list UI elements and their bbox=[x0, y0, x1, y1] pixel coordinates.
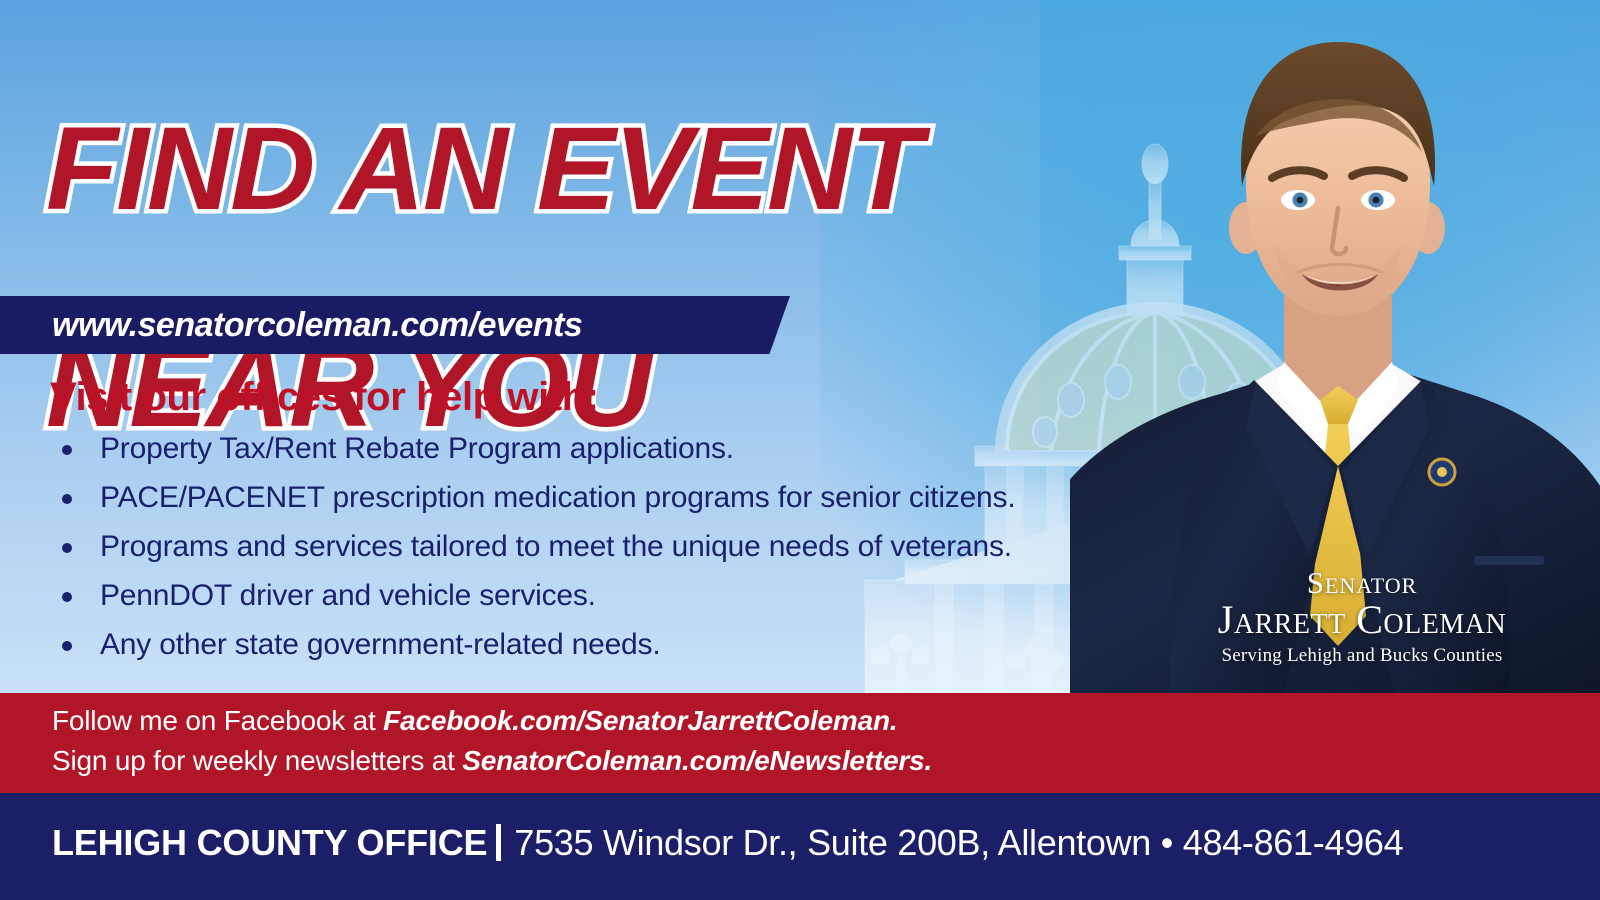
url-banner[interactable]: www.senatorcoleman.com/events bbox=[0, 296, 790, 354]
bullet-dot-icon bbox=[62, 592, 72, 602]
list-item: Property Tax/Rent Rebate Program applica… bbox=[52, 434, 1112, 464]
mailer-poster: FIND AN EVENT NEAR YOU www.senatorcolema… bbox=[0, 0, 1600, 900]
list-item: Programs and services tailored to meet t… bbox=[52, 532, 1112, 562]
newsletter-line: Sign up for weekly newsletters at Senato… bbox=[52, 745, 932, 777]
list-item-label: Programs and services tailored to meet t… bbox=[100, 530, 1012, 563]
bullet-dot-icon bbox=[62, 641, 72, 651]
bullet-dot-icon bbox=[62, 494, 72, 504]
senator-portrait-photo bbox=[1070, 0, 1600, 696]
events-url-text[interactable]: www.senatorcoleman.com/events bbox=[52, 306, 582, 345]
office-footer: LEHIGH COUNTY OFFICE7535 Windsor Dr., Su… bbox=[0, 793, 1600, 900]
services-list: Property Tax/Rent Rebate Program applica… bbox=[52, 434, 1112, 679]
footer-text: LEHIGH COUNTY OFFICE7535 Windsor Dr., Su… bbox=[52, 822, 1403, 864]
facebook-url[interactable]: Facebook.com/SenatorJarrettColeman. bbox=[383, 705, 897, 736]
newsletter-prefix: Sign up for weekly newsletters at bbox=[52, 745, 462, 776]
facebook-line: Follow me on Facebook at Facebook.com/Se… bbox=[52, 705, 897, 737]
list-item-label: PennDOT driver and vehicle services. bbox=[100, 579, 596, 612]
list-item: Any other state government-related needs… bbox=[52, 630, 1112, 660]
office-address: 7535 Windsor Dr., Suite 200B, Allentown … bbox=[514, 822, 1403, 863]
bullet-dot-icon bbox=[62, 543, 72, 553]
newsletter-url[interactable]: SenatorColeman.com/eNewsletters. bbox=[462, 745, 932, 776]
bullet-dot-icon bbox=[62, 445, 72, 455]
list-item-label: PACE/PACENET prescription medication pro… bbox=[100, 481, 1015, 514]
office-label: LEHIGH COUNTY OFFICE bbox=[52, 822, 487, 863]
divider-bar bbox=[496, 824, 501, 861]
headline-line-1: FIND AN EVENT bbox=[46, 115, 1186, 224]
list-item-label: Any other state government-related needs… bbox=[100, 628, 660, 661]
list-item: PACE/PACENET prescription medication pro… bbox=[52, 483, 1112, 513]
social-band: Follow me on Facebook at Facebook.com/Se… bbox=[0, 693, 1600, 793]
section-heading: Visit our offices for help with: bbox=[50, 375, 599, 420]
list-item: PennDOT driver and vehicle services. bbox=[52, 581, 1112, 611]
facebook-prefix: Follow me on Facebook at bbox=[52, 705, 383, 736]
list-item-label: Property Tax/Rent Rebate Program applica… bbox=[100, 432, 734, 465]
